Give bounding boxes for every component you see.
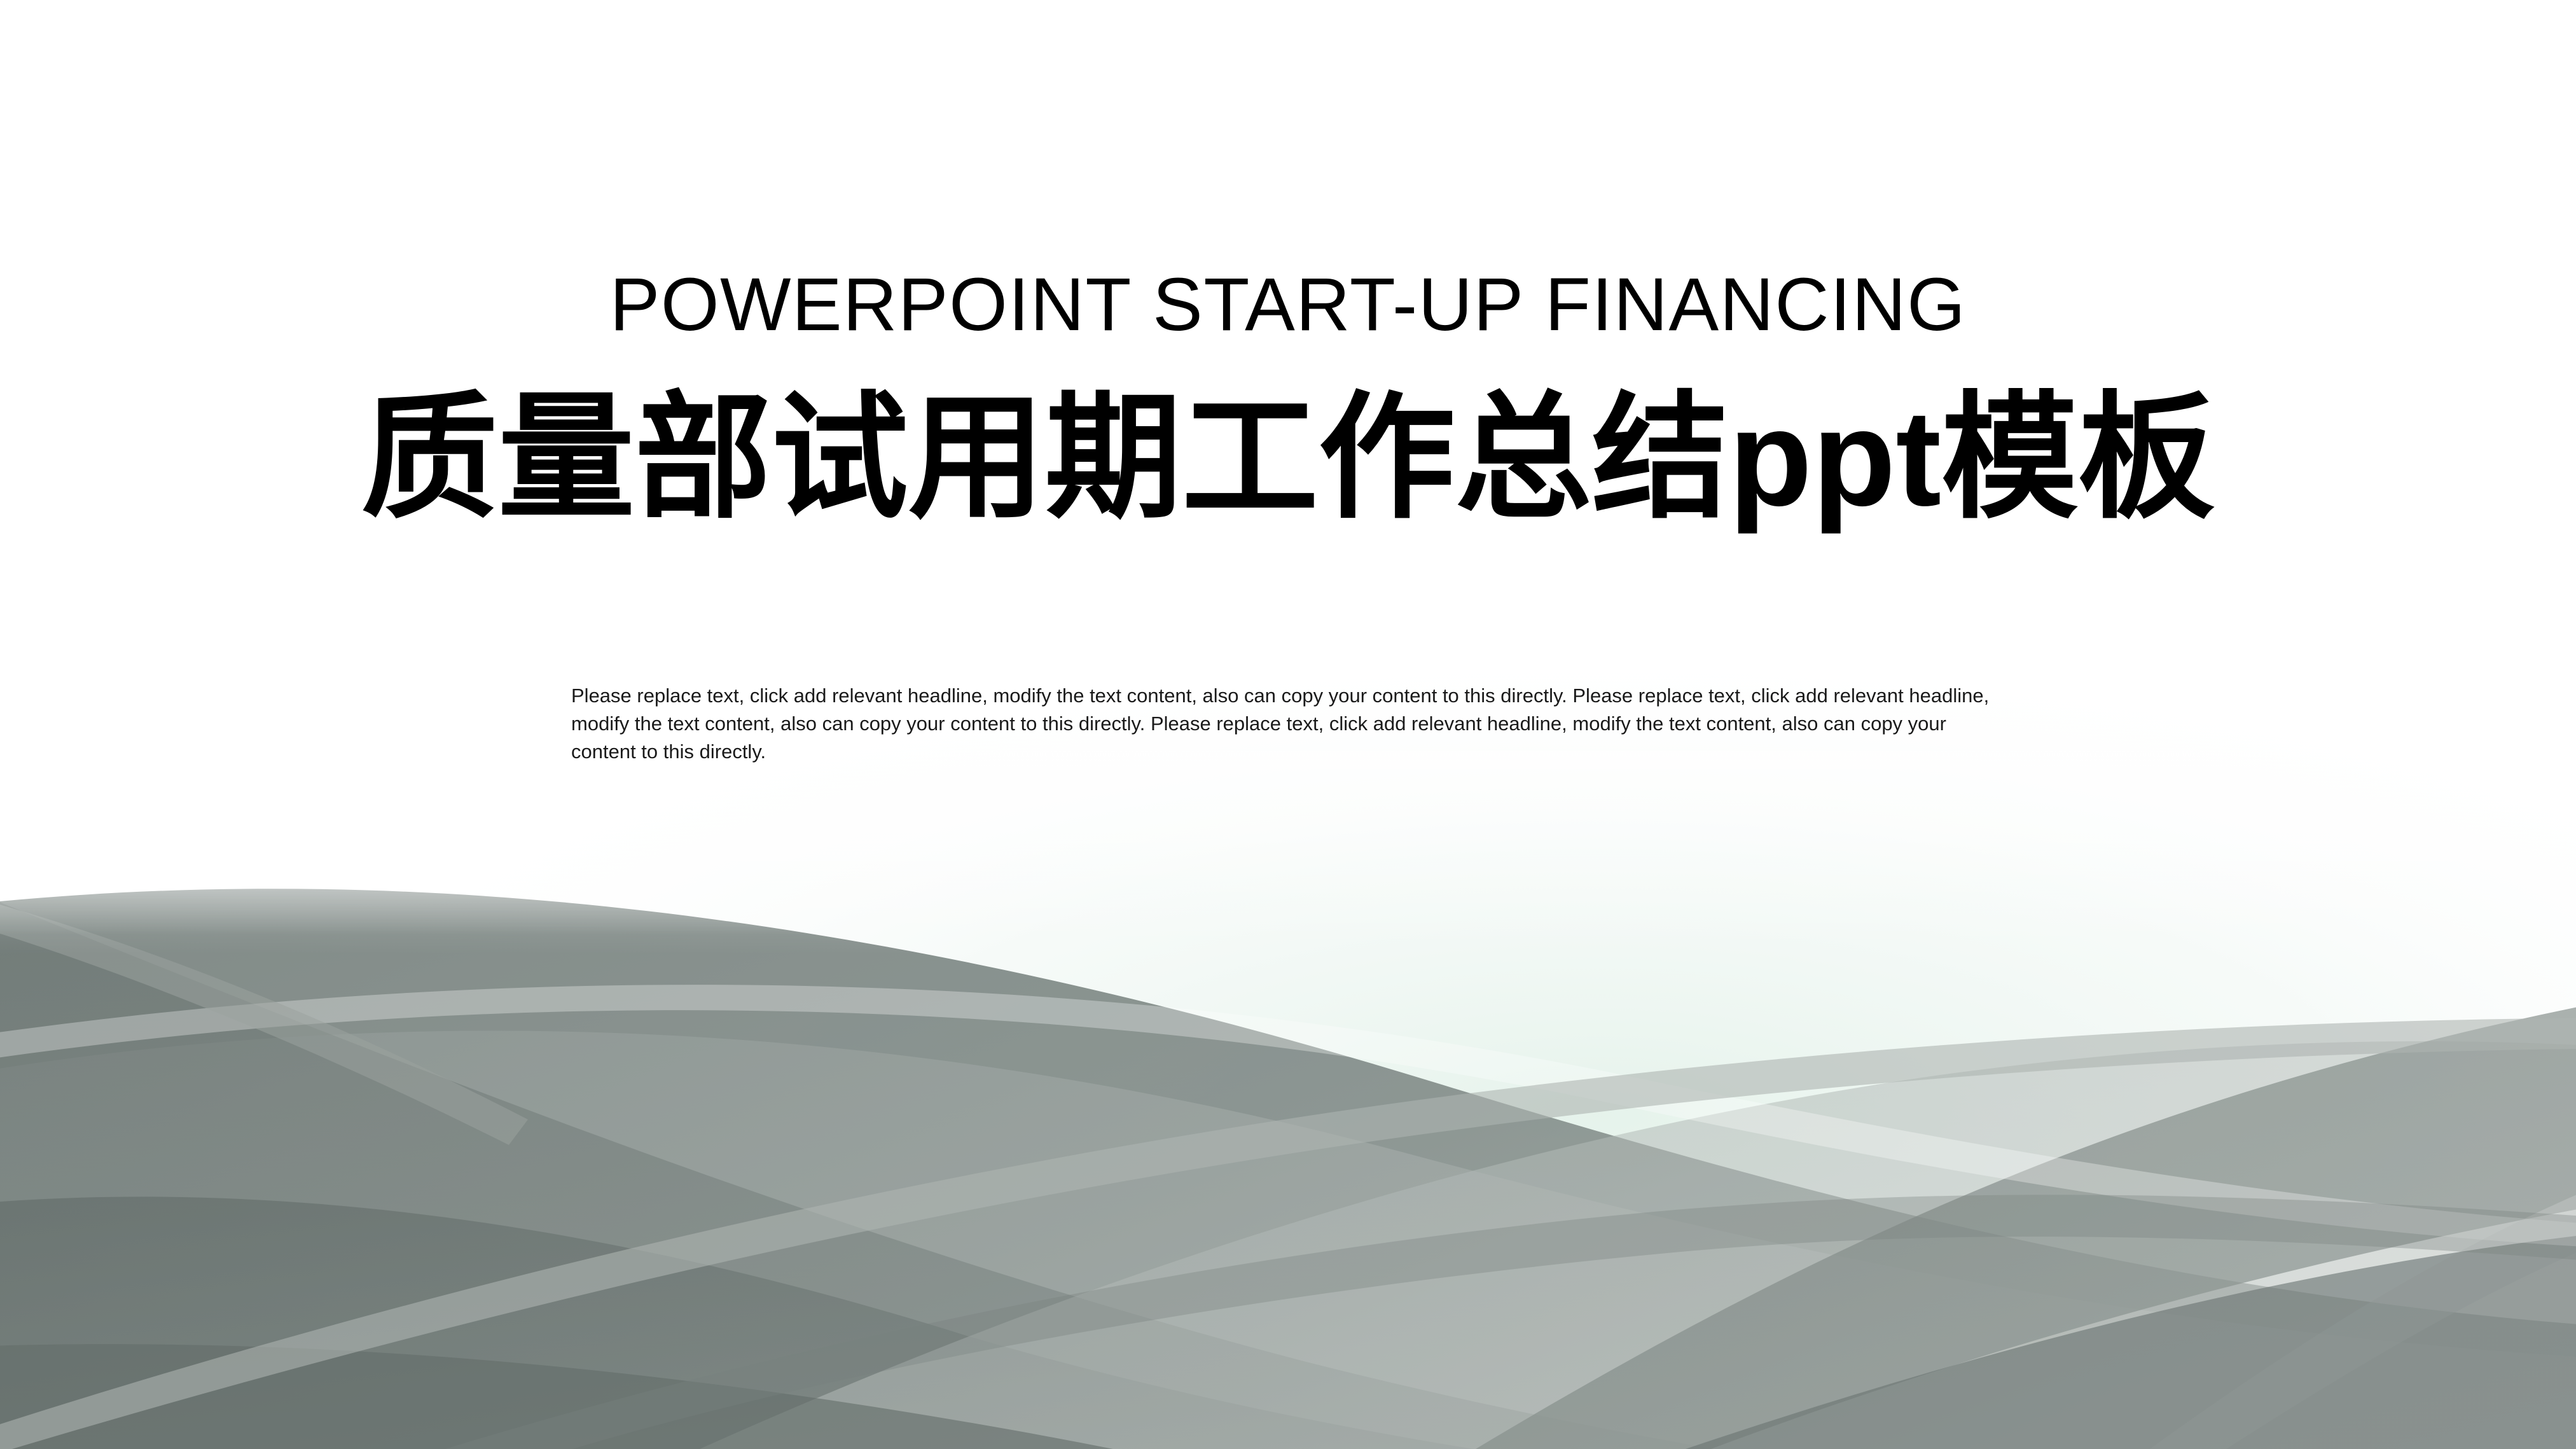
slide-content: POWERPOINT START-UP FINANCING 质量部试用期工作总结…: [0, 0, 2576, 1449]
slide-title: 质量部试用期工作总结ppt模板: [0, 382, 2576, 535]
slide-body-paragraph: Please replace text, click add relevant …: [571, 682, 1999, 766]
slide-subtitle: POWERPOINT START-UP FINANCING: [0, 266, 2576, 345]
presentation-slide: POWERPOINT START-UP FINANCING 质量部试用期工作总结…: [0, 0, 2576, 1449]
